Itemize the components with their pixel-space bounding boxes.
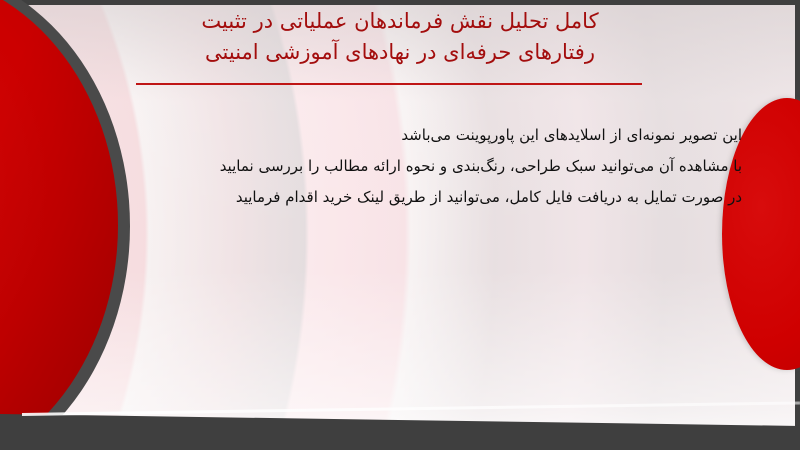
body-line-1: این تصویر نمونه‌ای از اسلایدهای این پاور… [60,120,742,151]
title-underline-rule [136,83,642,85]
body-line-2: با مشاهده آن می‌توانید سبک طراحی، رنگ‌بن… [60,151,742,182]
slide-body-text: این تصویر نمونه‌ای از اسلایدهای این پاور… [60,120,742,213]
body-line-3: در صورت تمایل به دریافت فایل کامل، می‌تو… [60,182,742,213]
slide-title: کامل تحلیل نقش فرماندهان عملیاتی در تثبی… [0,6,800,68]
slide-title-line-2: رفتارهای حرفه‌ای در نهادهای آموزشی امنیت… [0,37,800,68]
presentation-slide: کامل تحلیل نقش فرماندهان عملیاتی در تثبی… [0,0,800,450]
slide-title-line-1: کامل تحلیل نقش فرماندهان عملیاتی در تثبی… [0,6,800,37]
